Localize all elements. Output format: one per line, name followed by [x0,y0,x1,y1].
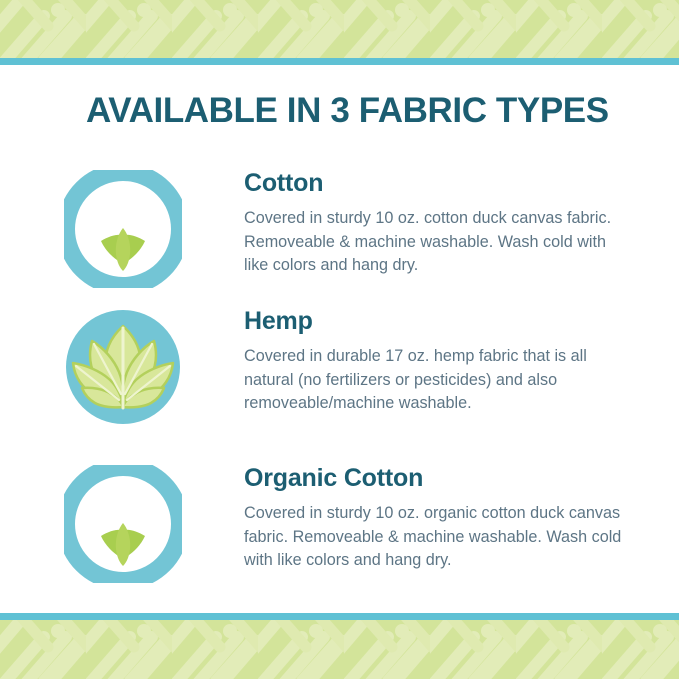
top-teal-rule [0,58,679,65]
feature-body: Covered in durable 17 oz. hemp fabric th… [244,345,624,416]
top-pattern-band [0,0,679,58]
page-title: AVAILABLE IN 3 FABRIC TYPES [86,91,609,131]
hemp-text-block: Hemp Covered in durable 17 oz. hemp fabr… [244,308,624,416]
cotton-boll-ring-icon [64,170,182,288]
bottom-band-weave-pattern [0,620,679,679]
cotton-text-block: Cotton Covered in sturdy 10 oz. cotton d… [244,170,624,278]
top-band-weave-pattern [0,0,679,58]
feature-heading: Hemp [244,308,624,334]
feature-heading: Organic Cotton [244,465,624,491]
feature-heading: Cotton [244,170,624,196]
organic-cotton-boll-ring-icon [64,465,182,583]
hemp-leaf-icon [64,308,182,426]
organic-cotton-text-block: Organic Cotton Covered in sturdy 10 oz. … [244,465,624,573]
feature-body: Covered in sturdy 10 oz. cotton duck can… [244,207,624,278]
bottom-pattern-band [0,620,679,679]
feature-body: Covered in sturdy 10 oz. organic cotton … [244,502,624,573]
bottom-teal-rule [0,613,679,620]
fabric-types-infographic: AVAILABLE IN 3 FABRIC TYPES Cotton Cover… [0,0,679,679]
